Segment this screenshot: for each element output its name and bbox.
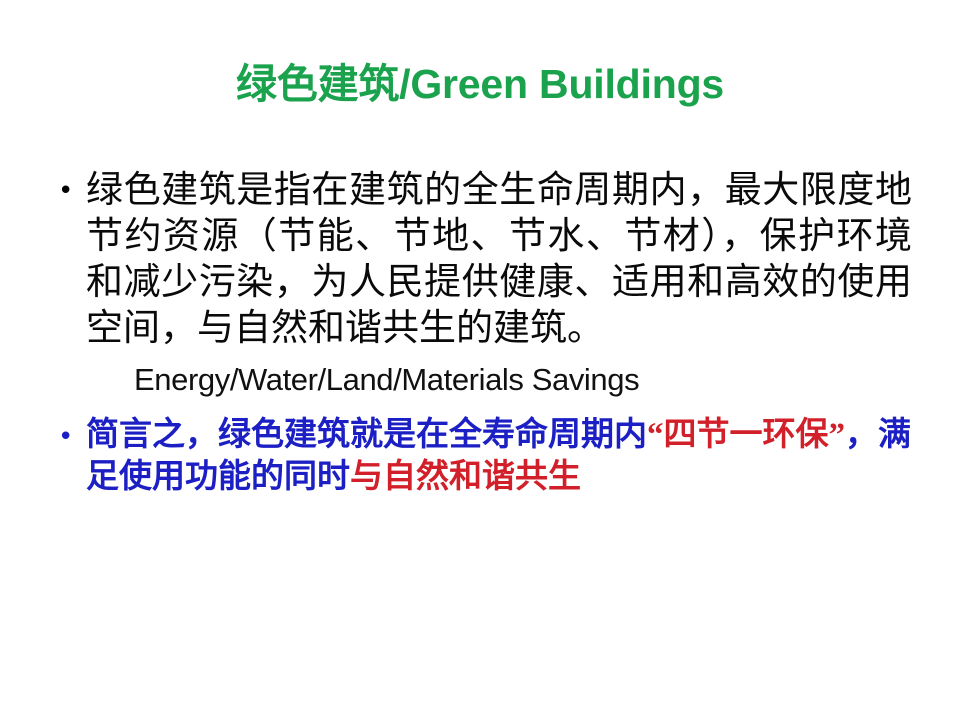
definition-paragraph: 绿色建筑是指在建筑的全生命周期内，最大限度地节约资源（节能、节地、节水、节材），…	[86, 168, 912, 352]
slide-title-en: /Green Buildings	[399, 61, 724, 107]
savings-subline: Energy/Water/Land/Materials Savings	[86, 358, 912, 402]
summary-segment-4: 与自然和谐共生	[350, 459, 581, 495]
slide-canvas: 绿色建筑/Green Buildings • 绿色建筑是指在建筑的全生命周期内，…	[0, 0, 960, 720]
bullet-item-summary: • 简言之，绿色建筑就是在全寿命周期内“四节一环保”，满足使用功能的同时与自然和…	[48, 414, 912, 498]
bullet-body-definition: 绿色建筑是指在建筑的全生命周期内，最大限度地节约资源（节能、节地、节水、节材），…	[86, 168, 912, 402]
slide-title-cn: 绿色建筑	[236, 61, 399, 107]
bullet-marker-icon: •	[48, 168, 86, 214]
bullet-body-summary: 简言之，绿色建筑就是在全寿命周期内“四节一环保”，满足使用功能的同时与自然和谐共…	[86, 414, 912, 498]
summary-paragraph: 简言之，绿色建筑就是在全寿命周期内“四节一环保”，满足使用功能的同时与自然和谐共…	[86, 414, 912, 498]
summary-segment-1: 简言之，绿色建筑就是在全寿命周期内	[86, 417, 647, 453]
slide-body: • 绿色建筑是指在建筑的全生命周期内，最大限度地节约资源（节能、节地、节水、节材…	[48, 168, 912, 498]
bullet-marker-icon-summary: •	[48, 414, 86, 460]
bullet-item-definition: • 绿色建筑是指在建筑的全生命周期内，最大限度地节约资源（节能、节地、节水、节材…	[48, 168, 912, 402]
slide-title: 绿色建筑/Green Buildings	[0, 58, 960, 110]
summary-segment-2: “四节一环保”	[647, 417, 845, 453]
